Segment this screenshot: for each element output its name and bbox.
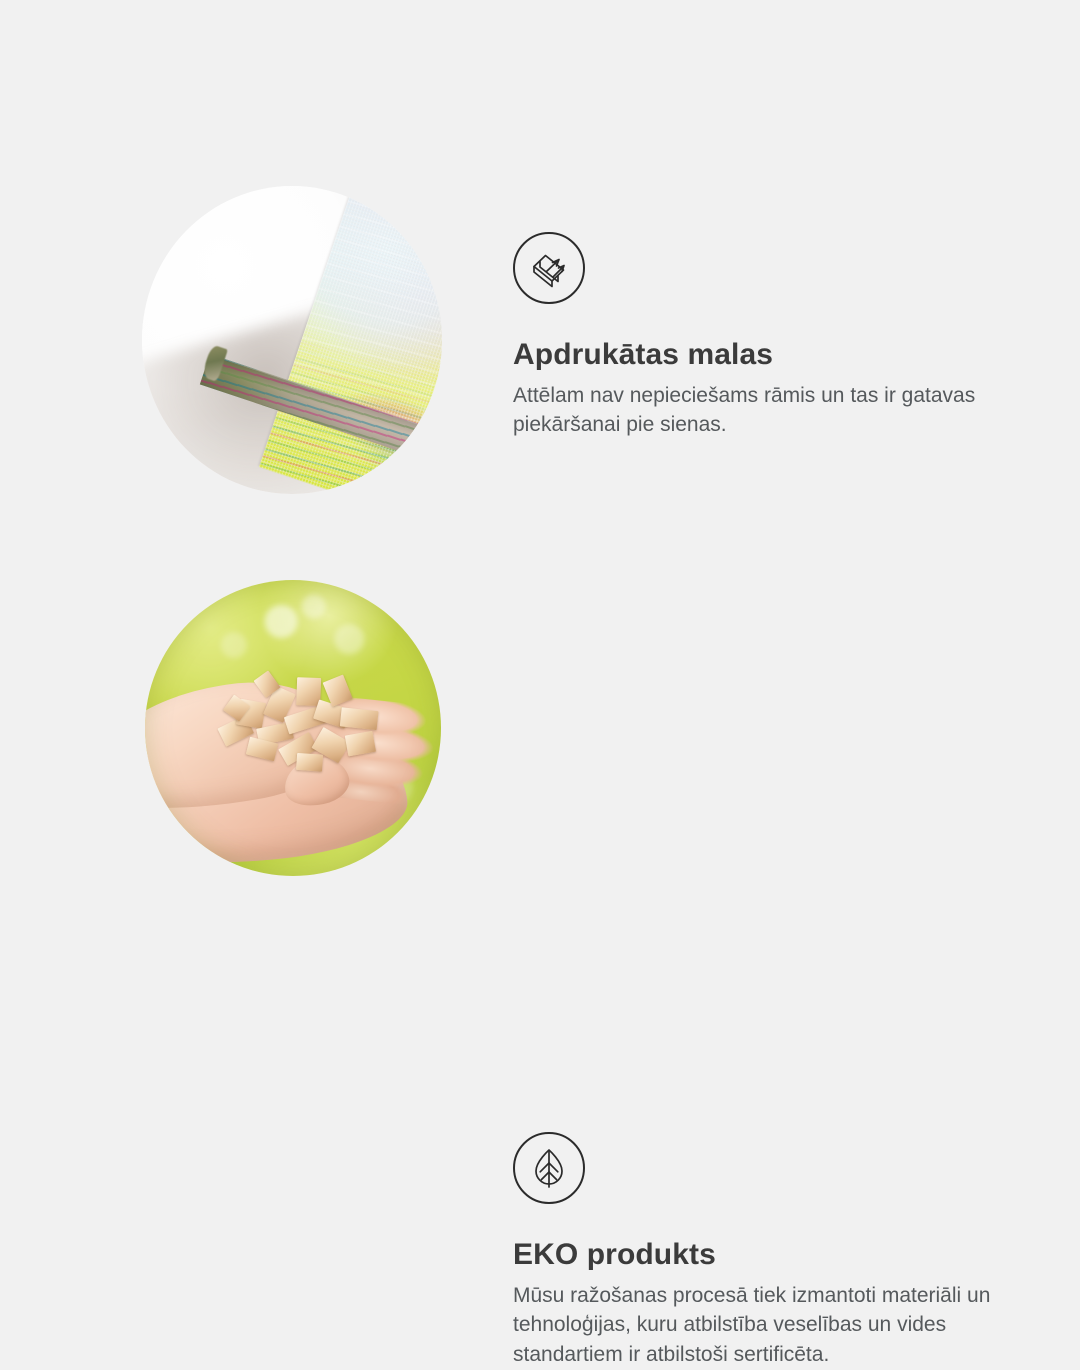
feature-description: Mūsu ražošanas procesā tiek izmantoti ma… bbox=[513, 1281, 1005, 1370]
feature-text-eco-product: EKO produkts Mūsu ražošanas procesā tiek… bbox=[513, 1132, 1013, 1370]
feature-title: EKO produkts bbox=[513, 1238, 1013, 1273]
canvas-print-corner-photo bbox=[142, 186, 442, 494]
hands-holding-wood-chips-photo bbox=[145, 580, 441, 876]
canvas-print-object bbox=[142, 186, 442, 494]
feature-description: Attēlam nav nepieciešams rāmis un tas ir… bbox=[513, 381, 1005, 441]
photo-soft-edge bbox=[145, 580, 441, 876]
feature-title: Apdrukātas malas bbox=[513, 338, 1013, 373]
leaf-icon bbox=[513, 1132, 585, 1204]
feature-text-printed-edges: Apdrukātas malas Attēlam nav nepieciešam… bbox=[513, 232, 1013, 440]
feature-page: Apdrukātas malas Attēlam nav nepieciešam… bbox=[0, 0, 1080, 1080]
printed-edges-icon bbox=[513, 232, 585, 304]
feature-block-eco-product: EKO produkts Mūsu ražošanas procesā tiek… bbox=[0, 540, 1080, 1080]
feature-block-printed-edges: Apdrukātas malas Attēlam nav nepieciešam… bbox=[0, 0, 1080, 540]
